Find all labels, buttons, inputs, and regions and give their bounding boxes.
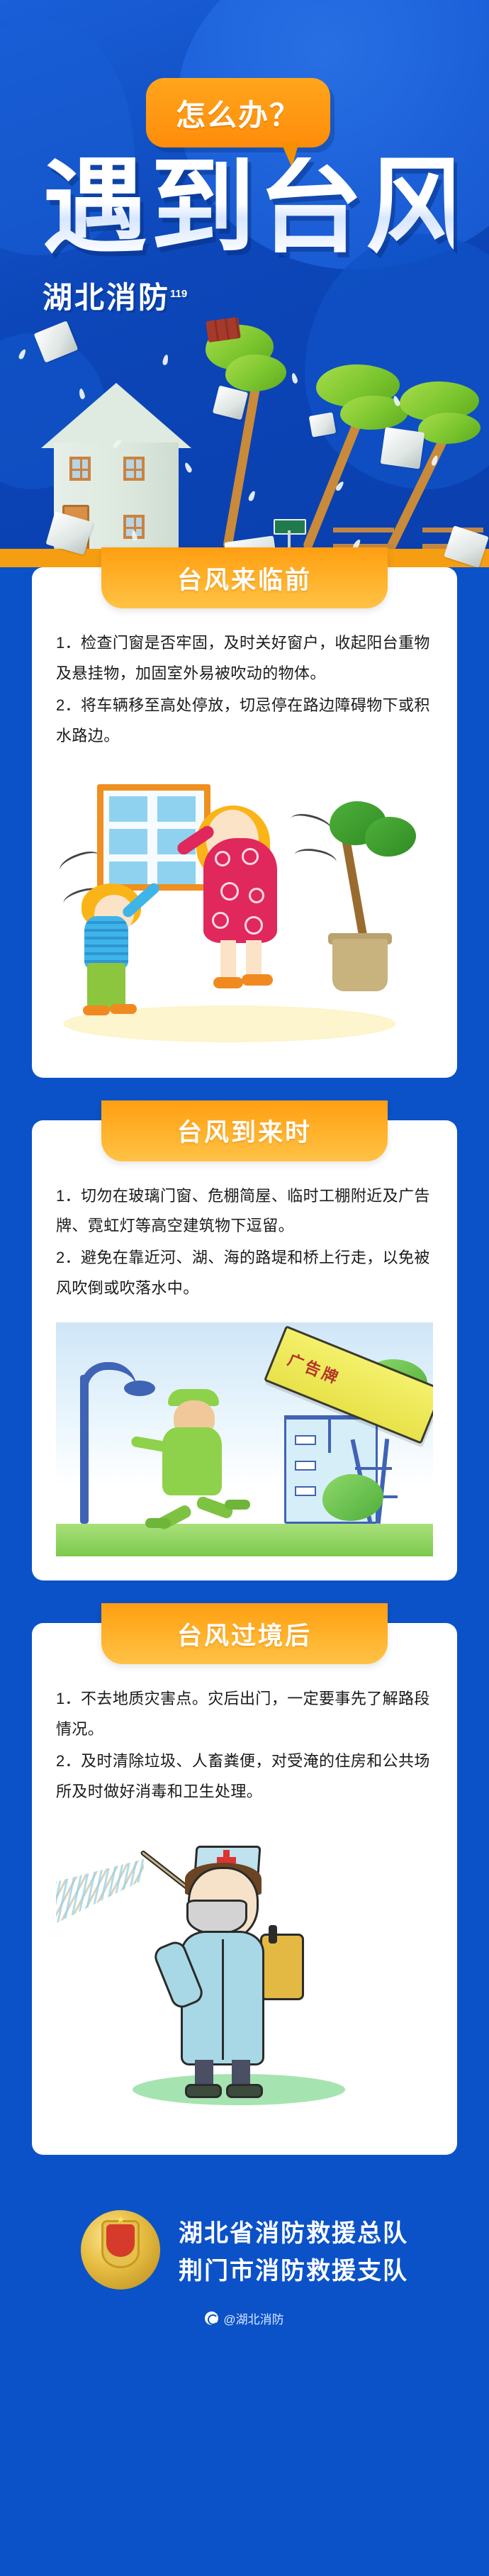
fire-rescue-emblem-icon: ★	[81, 2210, 160, 2290]
hero-banner: 怎么办？ 遇到台风 湖北消防119	[0, 0, 489, 567]
weibo-icon	[205, 2312, 218, 2325]
brand-superscript: 119	[170, 288, 187, 300]
section-banner-label: 台风到来时	[177, 1113, 312, 1149]
list-item: 1．切勿在玻璃门窗、危棚简屋、临时工棚附近及广告牌、霓虹灯等高空建筑物下逗留。	[56, 1181, 433, 1242]
section-banner-during: 台风到来时	[101, 1100, 388, 1161]
question-badge-label: 怎么办？	[176, 91, 300, 135]
section-card-during: 台风到来时 1．切勿在玻璃门窗、危棚简屋、临时工棚附近及广告牌、霓虹灯等高空建筑…	[32, 1120, 457, 1581]
sign-post	[288, 530, 291, 549]
section-body-after: 1．不去地质灾害点。灾后出门，一定要事先了解路段情况。 2．及时清除垃圾、人畜粪…	[56, 1684, 433, 1807]
section-banner-label: 台风来临前	[177, 560, 312, 596]
section-card-before: 台风来临前 1．检查门窗是否牢固，及时关好窗户，收起阳台重物及悬挂物，加固室外易…	[32, 567, 457, 1078]
list-item: 2．避免在靠近河、湖、海的路堤和桥上行走，以免被风吹倒或吹落水中。	[56, 1243, 433, 1304]
tree-icon-1	[210, 336, 252, 549]
weibo-handle-label: @湖北消防	[223, 2309, 283, 2327]
flying-debris-4	[381, 427, 425, 469]
flying-debris-1	[34, 320, 79, 363]
flying-debris-3	[309, 412, 337, 437]
footer: ★ 湖北省消防救援总队 荆门市消防救援支队 @湖北消防	[0, 2155, 489, 2360]
flying-brick-icon	[206, 317, 241, 342]
mother-dress	[203, 838, 277, 943]
section-body-before: 1．检查门窗是否牢固，及时关好窗户，收起阳台重物及悬挂物，加固室外易被吹动的物体…	[56, 628, 433, 752]
list-item: 1．不去地质灾害点。灾后出门，一定要事先了解路段情况。	[56, 1684, 433, 1745]
section-banner-after: 台风过境后	[101, 1603, 388, 1664]
section-banner-before: 台风来临前	[101, 547, 388, 608]
footer-org-line-2: 荆门市消防救援支队	[179, 2251, 408, 2286]
spray-mist-icon	[56, 1854, 144, 1939]
illustration-disinfection-worker	[56, 1826, 433, 2131]
sprayer-tank-icon	[260, 1934, 304, 2000]
section-card-after: 台风过境后 1．不去地质灾害点。灾后出门，一定要事先了解路段情况。 2．及时清除…	[32, 1623, 457, 2155]
fence-icon-1	[333, 528, 394, 549]
storm-illustration	[0, 305, 489, 567]
illustration-falling-billboard: 广告牌	[56, 1322, 433, 1556]
grass-strip	[56, 1524, 433, 1556]
list-item: 2．将车辆移至高处停放，切忌停在路边障碍物下或积水路边。	[56, 691, 433, 752]
list-item: 1．检查门窗是否牢固，及时关好窗户，收起阳台重物及悬挂物，加固室外易被吹动的物体…	[56, 628, 433, 689]
illustration-closing-window	[56, 770, 433, 1054]
billboard-text: 广告牌	[285, 1347, 344, 1389]
list-item: 2．及时清除垃圾、人畜粪便，对受淹的住房和公共场所及时做好消毒和卫生处理。	[56, 1746, 433, 1807]
page-title: 遇到台风	[43, 157, 454, 256]
section-body-during: 1．切勿在玻璃门窗、危棚简屋、临时工棚附近及广告牌、霓虹灯等高空建筑物下逗留。 …	[56, 1181, 433, 1305]
child-shirt	[84, 916, 128, 969]
question-badge: 怎么办？	[146, 78, 330, 147]
section-banner-label: 台风过境后	[177, 1616, 312, 1652]
footer-org-line-1: 湖北省消防救援总队	[179, 2214, 408, 2248]
face-mask-icon	[186, 1900, 247, 1935]
weibo-handle[interactable]: @湖北消防	[205, 2309, 283, 2327]
